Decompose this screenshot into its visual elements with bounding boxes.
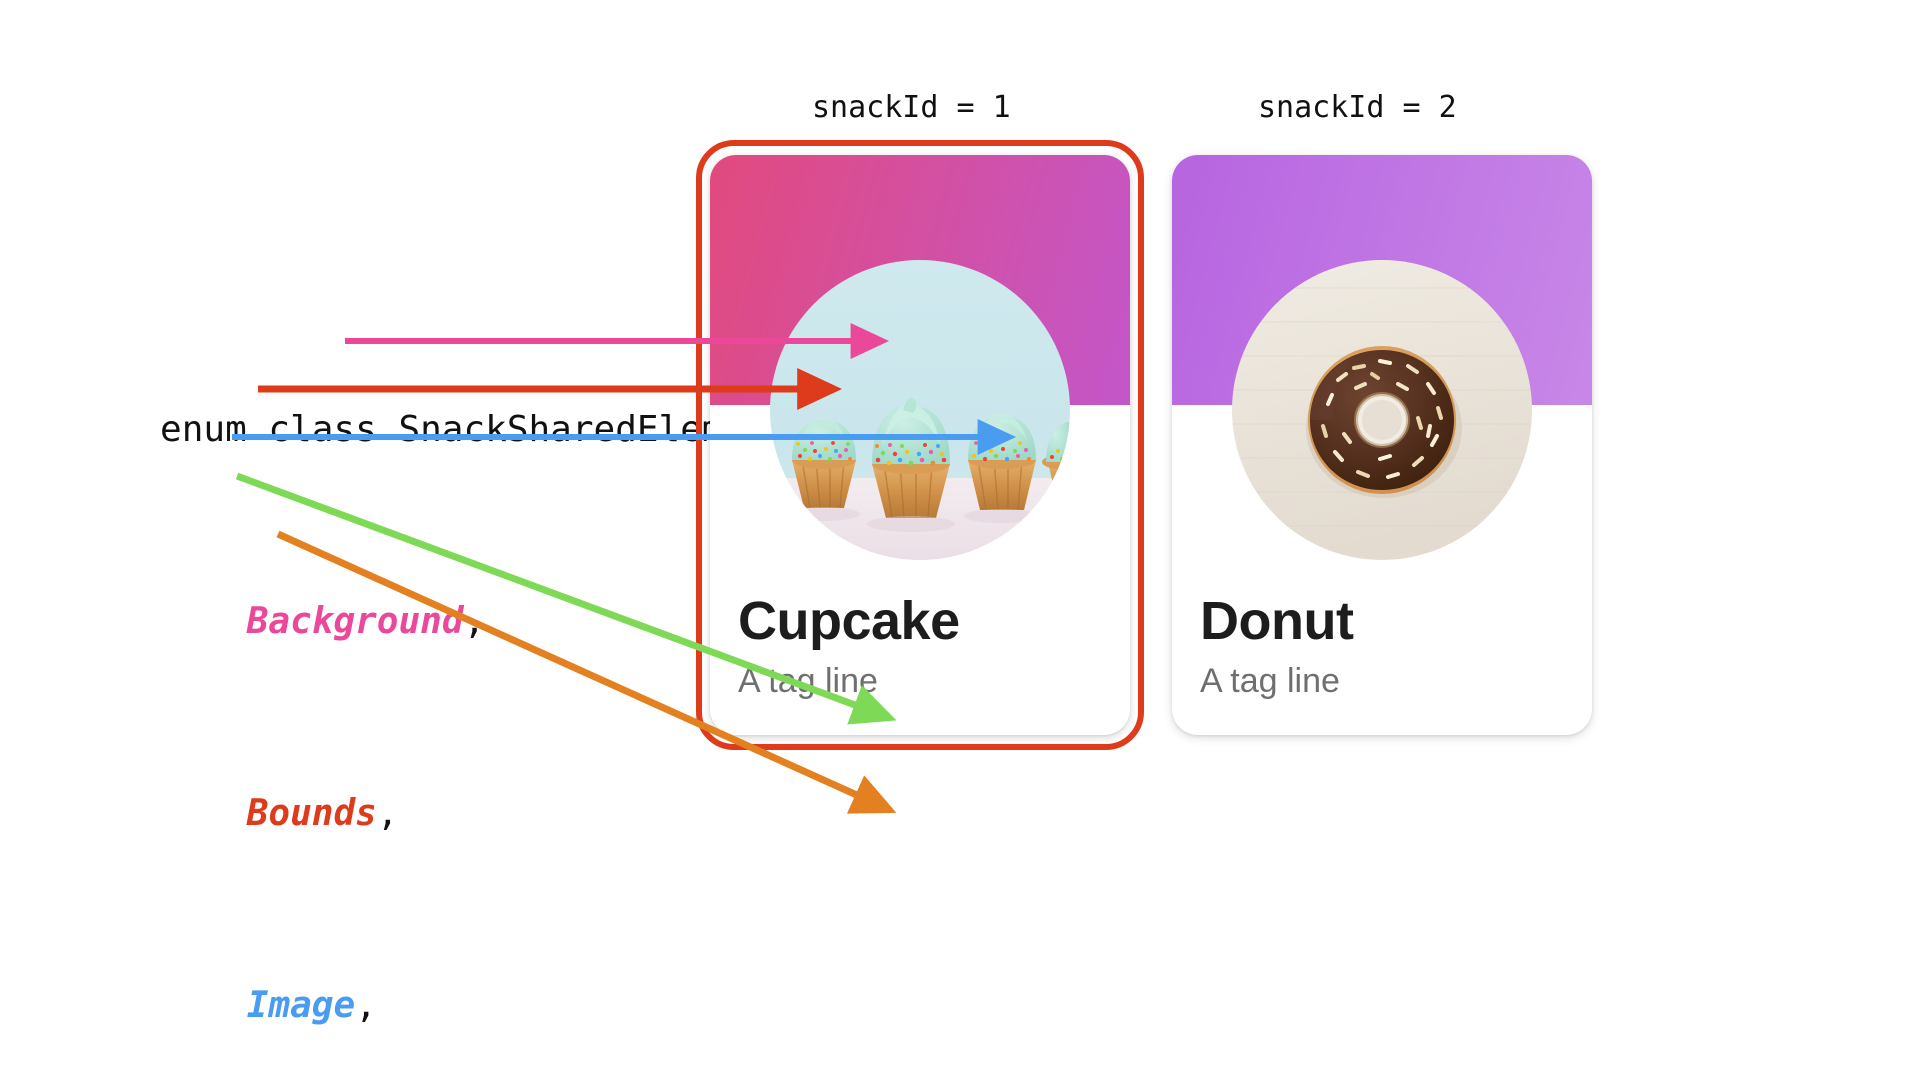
card-image-cupcake [770,260,1070,560]
donut-photo-icon [1232,260,1532,560]
snack-card-cupcake[interactable]: Cupcake A tag line [710,155,1130,735]
card-title: Donut [1200,591,1564,651]
enum-entry-background: Background [247,601,464,642]
enum-comma-1: , [377,793,399,834]
enum-comma-0: , [464,601,486,642]
snack-id-label-1: snackId = 1 [812,90,1011,125]
card-image-donut [1232,260,1532,560]
diagram-canvas: enum class SnackSharedElementType { Back… [0,0,1920,1080]
card-text-block-donut: Donut A tag line [1172,591,1592,735]
card-text-block-cupcake: Cupcake A tag line [710,591,1130,735]
enum-entry-bounds: Bounds [247,793,377,834]
card-tagline: A tag line [738,661,1102,701]
card-tagline: A tag line [1200,661,1564,701]
snack-card-donut[interactable]: Donut A tag line [1172,155,1592,735]
code-line-entry-bounds: Bounds, [30,742,919,790]
snack-id-label-2: snackId = 2 [1258,90,1457,125]
enum-comma-2: , [355,985,377,1026]
cupcakes-photo-icon [770,260,1070,560]
enum-entry-image: Image [247,985,355,1026]
card-title: Cupcake [738,591,1102,651]
code-line-entry-image: Image, [30,934,919,982]
